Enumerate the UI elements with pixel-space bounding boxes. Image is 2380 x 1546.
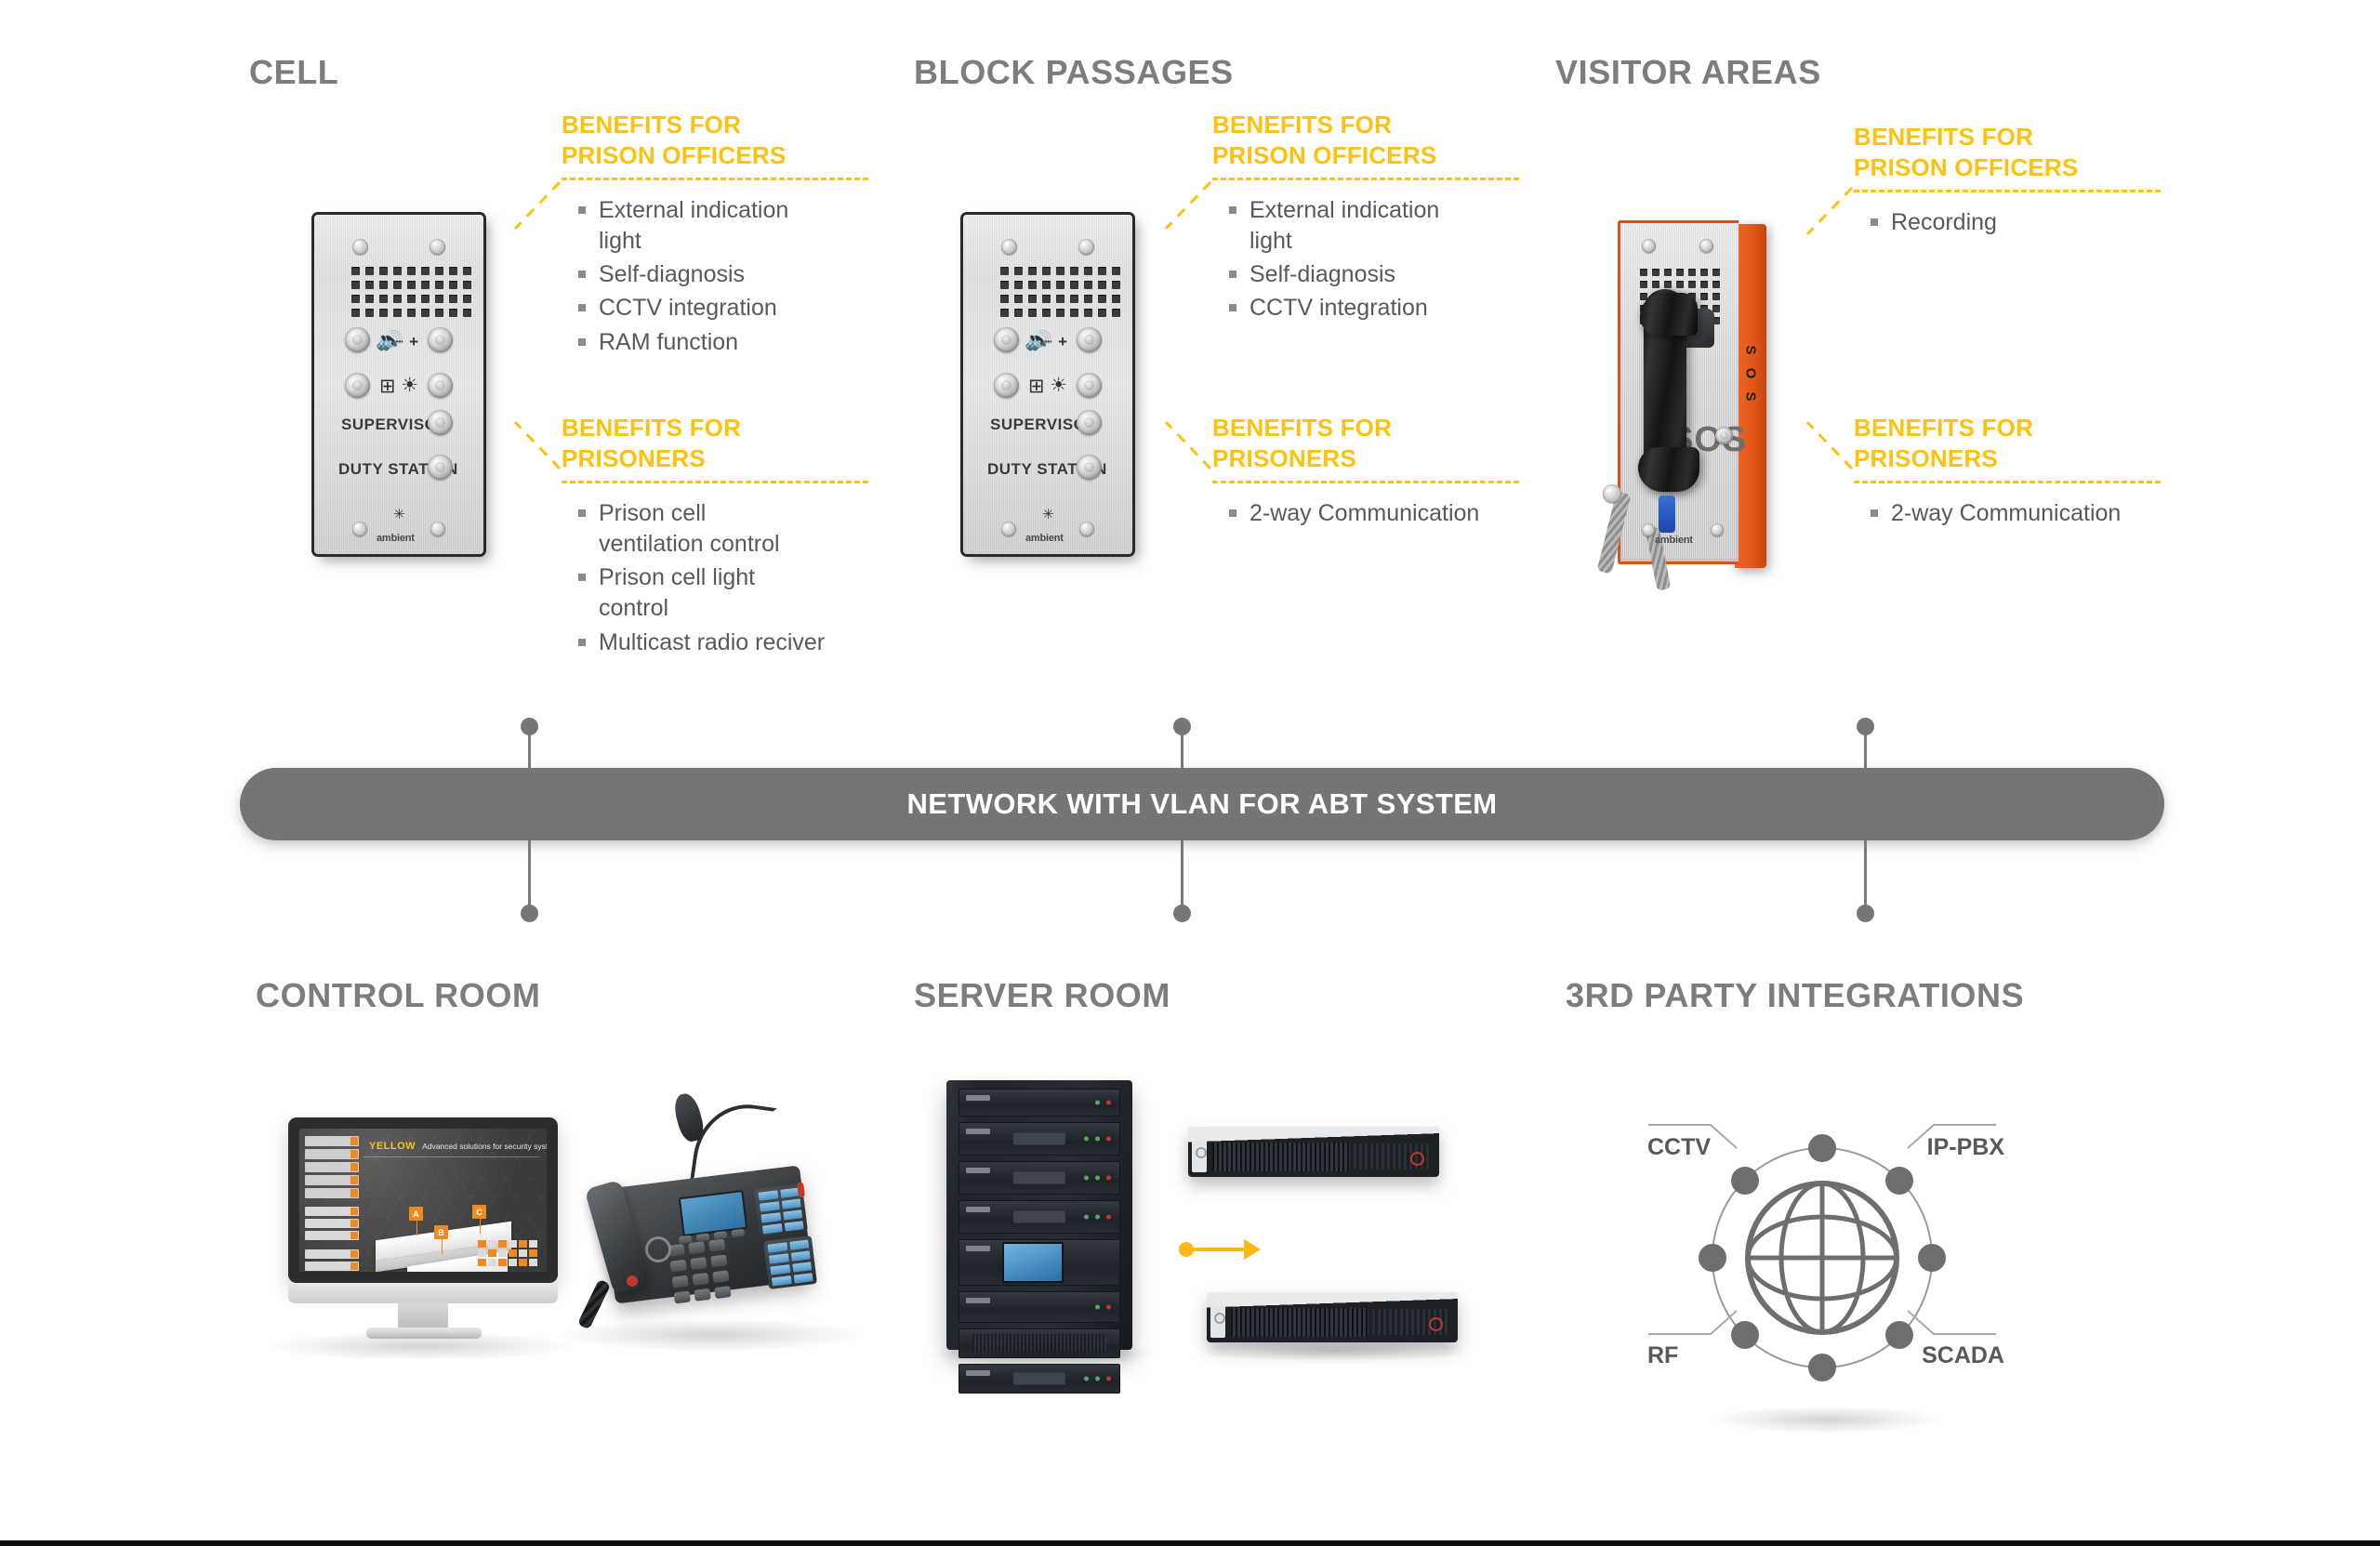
supervisor-button[interactable] [428, 410, 453, 435]
integration-label-scada: SCADA [1922, 1342, 2004, 1369]
handset-mouthpiece [1638, 447, 1699, 492]
light-icon: ☀ [1050, 376, 1067, 395]
callout-divider [562, 178, 868, 180]
brand-logo [966, 1095, 990, 1101]
rack-unit[interactable] [959, 1122, 1120, 1156]
monitor-bezel: YELLOW Advanced solutions for security s… [288, 1117, 558, 1283]
voip-desk-phone[interactable] [575, 1097, 853, 1348]
callout-divider [1212, 481, 1519, 483]
connector-pin-block [1181, 725, 1183, 768]
connector-pin-visitor [1864, 725, 1867, 768]
supervisor-button[interactable] [1077, 410, 1102, 435]
integration-label-cctv: CCTV [1647, 1134, 1711, 1161]
list-item[interactable] [305, 1188, 359, 1198]
volume-down-button[interactable] [994, 327, 1019, 352]
connector-pin-third-party [1864, 840, 1867, 913]
list-item: RAM function [576, 327, 868, 358]
rack-shadow [930, 1341, 1162, 1367]
status-led-icon [797, 1183, 805, 1198]
rack-unit-touchscreen[interactable] [959, 1239, 1120, 1286]
leader-line [1153, 416, 1218, 482]
list-item[interactable] [305, 1219, 359, 1228]
brand-logo [966, 1168, 990, 1173]
speaker-grille [351, 267, 471, 317]
server-shadow [1196, 1339, 1474, 1363]
screw-icon [1078, 239, 1094, 255]
list-item[interactable] [305, 1249, 359, 1259]
handset-earpiece [1640, 293, 1698, 336]
network-bar-label: NETWORK WITH VLAN FOR ABT SYSTEM [906, 787, 1497, 821]
sos-side-text: S O S [1743, 345, 1759, 405]
callout-list: 2-way Communication [1212, 498, 1519, 529]
callout-cell-prisoners: BENEFITS FOR PRISONERS Prison cell venti… [562, 413, 868, 661]
software-brand: YELLOW [369, 1141, 416, 1152]
module-slot [1013, 1211, 1065, 1223]
callout-divider [1854, 481, 2161, 483]
ventilation-mesh [1212, 1143, 1350, 1170]
phone-keypad[interactable] [668, 1239, 731, 1304]
rack-ear-icon [1210, 1306, 1225, 1338]
callout-divider [1854, 190, 2161, 192]
diagram-canvas: CELL BLOCK PASSAGES VISITOR AREAS 🔈 − 🔊 … [0, 0, 2380, 1546]
microphone-head-icon [671, 1091, 707, 1144]
rack-unit[interactable] [959, 1161, 1120, 1195]
emergency-icon: ✳ [393, 508, 405, 522]
screw-icon [1699, 239, 1713, 253]
phone-side-panel: S O S [1735, 224, 1766, 568]
brand-logo: ambient [1025, 533, 1064, 544]
third-party-integration-graphic: CCTV IP-PBX RF SCADA [1618, 1106, 2027, 1413]
leader-line [1794, 416, 1859, 482]
brand-logo [966, 1246, 990, 1251]
status-leds [1084, 1176, 1111, 1181]
ventilation-button[interactable] [994, 373, 1019, 398]
marker-c: C [472, 1205, 486, 1219]
callout-title-line2: PRISON OFFICERS [562, 140, 868, 171]
light-icon: ☀ [401, 376, 418, 395]
software-nav-list[interactable] [305, 1136, 359, 1201]
section-title-visitor-areas: VISITOR AREAS [1555, 53, 1821, 92]
callout-title-line1: BENEFITS FOR [562, 413, 868, 443]
equipment-rack[interactable] [946, 1080, 1132, 1350]
connector-pin-control-room [528, 840, 531, 913]
callout-title-line2: PRISONERS [562, 443, 868, 474]
marker-a: A [409, 1207, 423, 1221]
screw-icon [352, 239, 368, 255]
callout-block-prisoners: BENEFITS FOR PRISONERS 2-way Communicati… [1212, 413, 1519, 532]
volume-up-icon: 🔊 [1029, 332, 1052, 350]
callout-title-line2: PRISON OFFICERS [1854, 152, 2161, 183]
software-tagline: Advanced solutions for security systems … [422, 1142, 547, 1151]
screw-icon [1642, 239, 1656, 253]
brand-logo: ambient [377, 533, 415, 544]
list-item: Multicast radio reciver [576, 628, 868, 658]
screw-icon [430, 239, 445, 255]
globe-shadow [1711, 1406, 1943, 1434]
list-item[interactable] [305, 1231, 359, 1240]
screw-icon [1001, 522, 1016, 536]
connector-dot [521, 905, 538, 922]
callout-cell-officers: BENEFITS FOR PRISON OFFICERS External in… [562, 110, 868, 361]
status-matrix [478, 1240, 541, 1272]
list-item: 2-way Communication [1869, 498, 2161, 529]
ventilation-mesh [1231, 1308, 1368, 1336]
status-leds [1084, 1137, 1111, 1142]
list-item[interactable] [305, 1207, 359, 1216]
connector-pin-cell [528, 725, 531, 768]
status-leds [1084, 1215, 1111, 1220]
rack-ear-icon [1192, 1141, 1207, 1172]
rack-unit[interactable] [959, 1200, 1120, 1234]
leader-line [1794, 182, 1859, 247]
connector-dot [521, 718, 538, 735]
emergency-icon: ✳ [1042, 508, 1054, 522]
sos-emergency-phone[interactable]: S O S SOS ambient [1618, 220, 1766, 564]
rack-lcd-screen [1002, 1242, 1064, 1283]
bottom-border [0, 1540, 2380, 1546]
monitor-chin [288, 1283, 558, 1303]
ventilation-button[interactable] [345, 373, 370, 398]
list-item: CCTV integration [1227, 293, 1519, 324]
intercom-panel-cell[interactable]: 🔈 − 🔊 + ⊞ ☀ SUPERVISOR DUTY STATION ✳ am… [314, 215, 483, 554]
list-item: Self-diagnosis [1227, 259, 1519, 290]
callout-list: Prison cell ventilation control Prison c… [562, 498, 868, 658]
callout-visitor-prisoners: BENEFITS FOR PRISONERS 2-way Communicati… [1854, 413, 2161, 532]
call-button[interactable] [1715, 427, 1733, 444]
list-item[interactable] [305, 1136, 359, 1146]
intercom-panel-block-passages[interactable]: 🔈 − 🔊 + ⊞ ☀ SUPERVISOR DUTY STATION ✳ am… [963, 215, 1132, 554]
list-item: External indication light [576, 195, 817, 258]
callout-divider [562, 481, 868, 483]
callout-list: Recording [1854, 207, 2161, 238]
network-backbone-bar: NETWORK WITH VLAN FOR ABT SYSTEM [240, 768, 2164, 840]
leader-line [502, 177, 567, 242]
callout-title-line1: BENEFITS FOR [1212, 110, 1519, 140]
screw-icon [430, 522, 445, 536]
monitor-screen: YELLOW Advanced solutions for security s… [299, 1129, 547, 1272]
screw-icon [1079, 522, 1094, 536]
rack-unit[interactable] [959, 1291, 1120, 1323]
connector-dot [1857, 905, 1874, 922]
leader-line [1153, 177, 1218, 242]
brand-logo [966, 1298, 990, 1303]
light-button[interactable] [428, 373, 453, 398]
handset-cable-boot [1659, 496, 1675, 533]
integration-label-ip-pbx: IP-PBX [1927, 1134, 2004, 1161]
brand-logo: ambient [1655, 535, 1693, 546]
callout-title-line1: BENEFITS FOR [1854, 122, 2161, 152]
marker-b: B [434, 1225, 448, 1239]
list-item: 2-way Communication [1227, 498, 1519, 529]
plus-icon: + [1058, 334, 1067, 350]
callout-block-officers: BENEFITS FOR PRISON OFFICERS External in… [1212, 110, 1519, 327]
callout-title-line1: BENEFITS FOR [562, 110, 868, 140]
list-item: External indication light [1227, 195, 1468, 258]
volume-up-icon: 🔊 [380, 332, 403, 350]
status-leds [1095, 1101, 1111, 1105]
status-leds [1084, 1377, 1111, 1381]
section-title-block-passages: BLOCK PASSAGES [914, 53, 1234, 92]
callout-visitor-officers: BENEFITS FOR PRISON OFFICERS Recording [1854, 122, 2161, 241]
module-slot [1013, 1172, 1065, 1184]
brand-logo [966, 1129, 990, 1134]
callout-title-line1: BENEFITS FOR [1854, 413, 2161, 443]
software-header: YELLOW Advanced solutions for security s… [363, 1136, 539, 1157]
window-icon: ⊞ [379, 377, 396, 396]
light-button[interactable] [1077, 373, 1102, 398]
leader-line [502, 416, 567, 482]
rack-unit[interactable] [959, 1089, 1120, 1117]
connector-dot [1173, 905, 1191, 922]
callout-title-line2: PRISONERS [1212, 443, 1519, 474]
screw-icon [352, 522, 367, 536]
section-title-control-room: CONTROL ROOM [256, 976, 541, 1015]
operator-workstation-monitor[interactable]: YELLOW Advanced solutions for security s… [288, 1117, 558, 1341]
connector-pin-server-room [1181, 840, 1183, 913]
callout-list: External indication light Self-diagnosis… [1212, 195, 1519, 324]
link-arrow-icon [1244, 1239, 1261, 1260]
rack-server-primary[interactable] [1188, 1127, 1439, 1177]
module-slot [1013, 1133, 1065, 1145]
list-item: Prison cell ventilation control [576, 498, 799, 561]
duty-station-button[interactable] [1077, 455, 1102, 480]
list-item[interactable] [305, 1175, 359, 1185]
screw-icon [1642, 523, 1655, 536]
callout-list: External indication light Self-diagnosis… [562, 195, 868, 358]
callout-title-line2: PRISON OFFICERS [1212, 140, 1519, 171]
screw-icon [1001, 239, 1017, 255]
list-item: Self-diagnosis [576, 259, 868, 290]
list-item[interactable] [305, 1162, 359, 1172]
section-title-third-party: 3RD PARTY INTEGRATIONS [1566, 976, 2024, 1015]
list-item: Prison cell light control [576, 562, 761, 625]
window-icon: ⊞ [1028, 377, 1045, 396]
section-title-cell: CELL [249, 53, 338, 92]
rack-unit[interactable] [959, 1364, 1120, 1394]
callout-list: 2-way Communication [1854, 498, 2161, 529]
callout-divider [1212, 178, 1519, 180]
duty-station-button[interactable] [428, 455, 453, 480]
volume-up-button[interactable] [428, 327, 453, 352]
monitor-shadow [268, 1331, 575, 1361]
link-line [1190, 1248, 1246, 1251]
list-item: CCTV integration [576, 293, 868, 324]
volume-up-button[interactable] [1077, 327, 1102, 352]
screw-icon [1711, 523, 1724, 536]
integration-label-rf: RF [1647, 1342, 1678, 1369]
callout-title-line1: BENEFITS FOR [1212, 413, 1519, 443]
connector-dot [1173, 718, 1191, 735]
rack-server-secondary[interactable] [1207, 1292, 1458, 1342]
brand-logo [966, 1207, 990, 1212]
list-item: Recording [1869, 207, 2161, 238]
brand-logo [966, 1370, 990, 1376]
expansion-module-bottom[interactable] [763, 1235, 817, 1289]
section-title-server-room: SERVER ROOM [914, 976, 1170, 1015]
cable-gland-icon [1603, 484, 1621, 503]
module-slot [1013, 1373, 1065, 1385]
volume-down-button[interactable] [345, 327, 370, 352]
list-item[interactable] [305, 1149, 359, 1159]
plus-icon: + [409, 334, 418, 350]
building-b-group[interactable] [305, 1249, 359, 1272]
connector-dot [1857, 718, 1874, 735]
list-item[interactable] [305, 1262, 359, 1271]
speaker-grille [1000, 267, 1120, 317]
status-leds [1095, 1305, 1111, 1310]
callout-title-line2: PRISONERS [1854, 443, 2161, 474]
monitor-neck [398, 1303, 448, 1329]
phone-shadow [558, 1318, 865, 1352]
building-a-group[interactable] [305, 1207, 359, 1243]
